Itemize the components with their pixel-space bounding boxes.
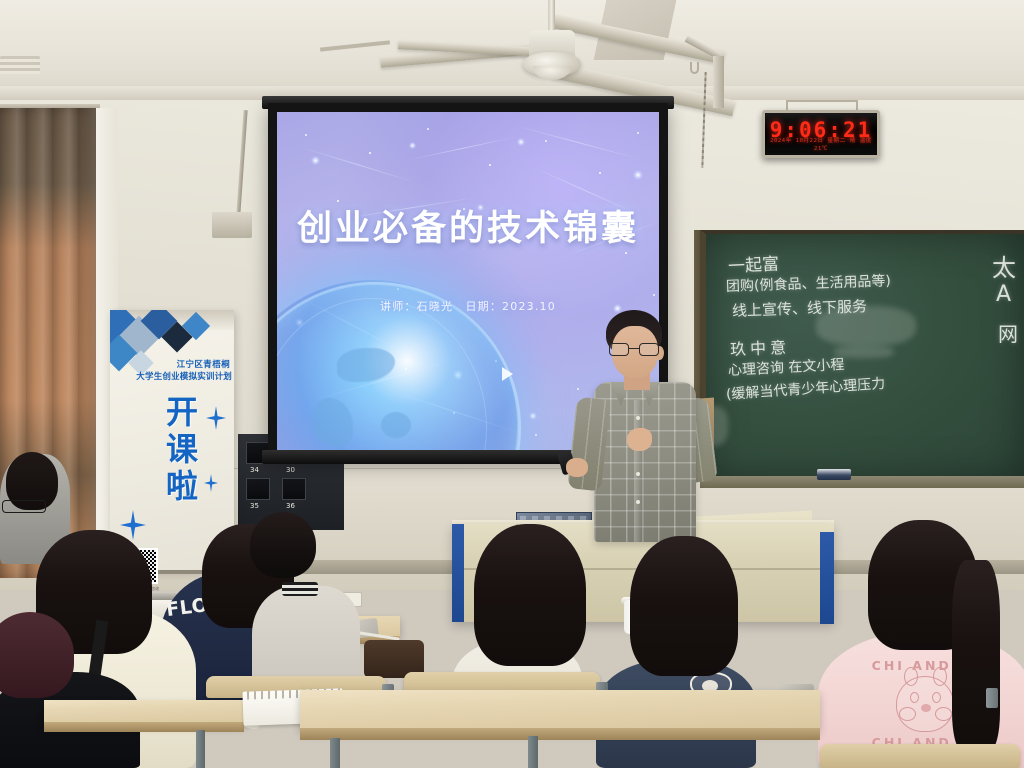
blackboard: 一起富 团购(例食品、生活用品等) 线上宣传、线下服务 玖中意 心理咨询 在文小… bbox=[700, 230, 1024, 480]
chipmunk-ear bbox=[933, 667, 947, 686]
wall-speaker bbox=[212, 212, 252, 238]
slide-network-node bbox=[633, 170, 643, 180]
digital-wall-clock: 9:06:21 2024年 10月22日 星期二 晴 温度21℃ bbox=[762, 110, 880, 158]
classroom-photo: 34 30 35 36 一起富 团购(例食品、生活用品等) 线上宣传、线下服务 … bbox=[0, 0, 1024, 768]
screen-mount-hook bbox=[690, 62, 699, 74]
slide-network-node bbox=[517, 138, 525, 146]
slide-network-node bbox=[311, 156, 320, 165]
chalk-tray bbox=[700, 476, 1024, 488]
slide-globe-landmass bbox=[381, 412, 411, 438]
presenter-glasses-icon bbox=[609, 343, 659, 356]
presenter-gesturing-hand bbox=[627, 428, 652, 451]
cabinet-slot-number: 36 bbox=[286, 502, 295, 510]
cabinet-slot-number: 34 bbox=[250, 466, 259, 474]
banner-sparkle-icon bbox=[206, 406, 226, 430]
play-triangle-icon[interactable] bbox=[502, 367, 513, 381]
shirt-button bbox=[636, 472, 640, 476]
presenter-shirt-placket bbox=[634, 400, 643, 542]
shirt-button bbox=[636, 500, 640, 504]
fan-downrod bbox=[548, 0, 555, 34]
clock-date-display: 2024年 10月22日 星期二 晴 温度21℃ bbox=[765, 136, 877, 152]
chipmunk-icon bbox=[896, 676, 954, 732]
banner-headline: 开 课 啦 bbox=[166, 394, 199, 505]
chalk-line: 玖中意 bbox=[730, 334, 791, 360]
ceiling-vent bbox=[0, 56, 40, 74]
chipmunk-cheek bbox=[935, 707, 952, 721]
glasses-bridge bbox=[629, 348, 639, 349]
clock-hanger bbox=[786, 100, 858, 102]
blackboard-eraser[interactable] bbox=[817, 469, 851, 480]
glasses-lens bbox=[609, 343, 629, 356]
front-student-desk bbox=[300, 690, 820, 730]
desk-leg bbox=[330, 738, 340, 768]
chipmunk-eye bbox=[910, 692, 919, 703]
student-head bbox=[250, 512, 316, 578]
student-hair bbox=[474, 524, 586, 666]
banner-sparkle-icon bbox=[120, 510, 146, 540]
banner-program-line-2: 大学生创业模拟实训计划 bbox=[116, 370, 232, 382]
banner-sparkle-icon bbox=[204, 474, 218, 492]
chalk-line: 团购(例食品、生活用品等) bbox=[726, 270, 892, 296]
banner-headline-char: 课 bbox=[166, 431, 199, 468]
cabinet-slot-number: 35 bbox=[250, 502, 259, 510]
promo-standee-banner: 江宁区青梧桐 大学生创业模拟实训计划 开 课 啦 bbox=[110, 310, 234, 570]
chair-bracket bbox=[986, 688, 998, 708]
student-glasses-icon bbox=[2, 500, 46, 513]
hoodie-cuff-stripe bbox=[282, 582, 318, 596]
desk-front-edge bbox=[300, 728, 820, 740]
slide-network-node bbox=[409, 142, 416, 149]
slide-title: 创业必备的技术锦囊 bbox=[277, 200, 659, 251]
chalk-line-right-edge: A bbox=[996, 282, 1011, 307]
screen-mount-plate bbox=[713, 56, 724, 108]
chipmunk-eye bbox=[932, 692, 941, 703]
chipmunk-cheek bbox=[899, 707, 916, 721]
chipmunk-nose bbox=[921, 704, 931, 712]
front-student-desk bbox=[44, 700, 244, 724]
chair-backrest bbox=[820, 744, 1020, 768]
desk-leg bbox=[196, 730, 205, 768]
banner-program-line-1: 江宁区青梧桐 bbox=[116, 358, 230, 370]
podium-edge-trim-right bbox=[820, 532, 834, 624]
chalk-line-right-edge: 网 bbox=[998, 318, 1018, 347]
student-hair bbox=[630, 536, 738, 676]
desk-front-edge bbox=[44, 722, 244, 732]
chalk-line: 一起富 bbox=[727, 249, 779, 277]
slide-subtitle: 讲师：石晓光 日期：2023.10 bbox=[277, 298, 659, 314]
banner-headline-char: 啦 bbox=[166, 468, 199, 505]
shirt-button bbox=[636, 416, 640, 420]
cabinet-slot-number: 30 bbox=[286, 466, 295, 474]
presenter-hand-holding-clicker bbox=[566, 458, 588, 477]
chipmunk-ear bbox=[904, 667, 918, 686]
slide-network-node bbox=[529, 412, 537, 420]
glasses-lens bbox=[639, 343, 659, 356]
cabinet-slot[interactable] bbox=[282, 478, 306, 500]
cabinet-slot[interactable] bbox=[246, 478, 270, 500]
chalk-line-right-edge: 太 bbox=[992, 248, 1016, 283]
podium-edge-trim-left bbox=[452, 524, 464, 622]
banner-headline-char: 开 bbox=[166, 394, 199, 431]
student-hair-strand bbox=[952, 560, 1000, 750]
desk-leg bbox=[528, 736, 538, 768]
